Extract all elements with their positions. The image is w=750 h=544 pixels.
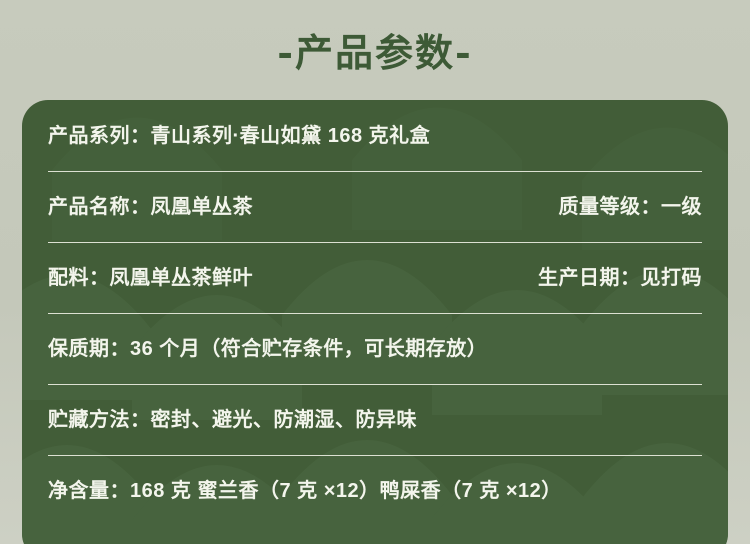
spec-row-label-name: 产品名称：凤凰单丛茶: [48, 193, 253, 221]
page-title-wrap: -产品参数-: [0, 30, 750, 76]
spec-rows: 产品系列：青山系列·春山如黛 168 克礼盒 产品名称：凤凰单丛茶 质量等级：一…: [22, 100, 728, 544]
page-title: -产品参数-: [277, 30, 473, 76]
spec-row-label-storage: 贮藏方法：密封、避光、防潮湿、防异味: [48, 406, 702, 434]
spec-row-label-net-weight: 净含量：168 克 蜜兰香（7 克 ×12）鸭屎香（7 克 ×12）: [48, 477, 702, 505]
spec-row-label-grade: 质量等级：一级: [559, 193, 703, 221]
product-spec-page: -产品参数-: [0, 0, 750, 544]
spec-row-label-shelf-life: 保质期：36 个月（符合贮存条件，可长期存放）: [48, 335, 702, 363]
spec-card: 产品系列：青山系列·春山如黛 168 克礼盒 产品名称：凤凰单丛茶 质量等级：一…: [22, 100, 728, 544]
spec-row-label-ingredients: 配料：凤凰单丛茶鲜叶: [48, 264, 253, 292]
spec-row-net-weight: 净含量：168 克 蜜兰香（7 克 ×12）鸭屎香（7 克 ×12）: [48, 455, 702, 526]
spec-row-name-grade: 产品名称：凤凰单丛茶 质量等级：一级: [48, 171, 702, 242]
spec-row-storage: 贮藏方法：密封、避光、防潮湿、防异味: [48, 384, 702, 455]
spec-row-ingredients-date: 配料：凤凰单丛茶鲜叶 生产日期：见打码: [48, 242, 702, 313]
spec-row-label-production-date: 生产日期：见打码: [538, 264, 702, 292]
spec-row-label-series: 产品系列：青山系列·春山如黛 168 克礼盒: [48, 122, 702, 150]
spec-row-series: 产品系列：青山系列·春山如黛 168 克礼盒: [48, 100, 702, 171]
spec-row-shelf-life: 保质期：36 个月（符合贮存条件，可长期存放）: [48, 313, 702, 384]
